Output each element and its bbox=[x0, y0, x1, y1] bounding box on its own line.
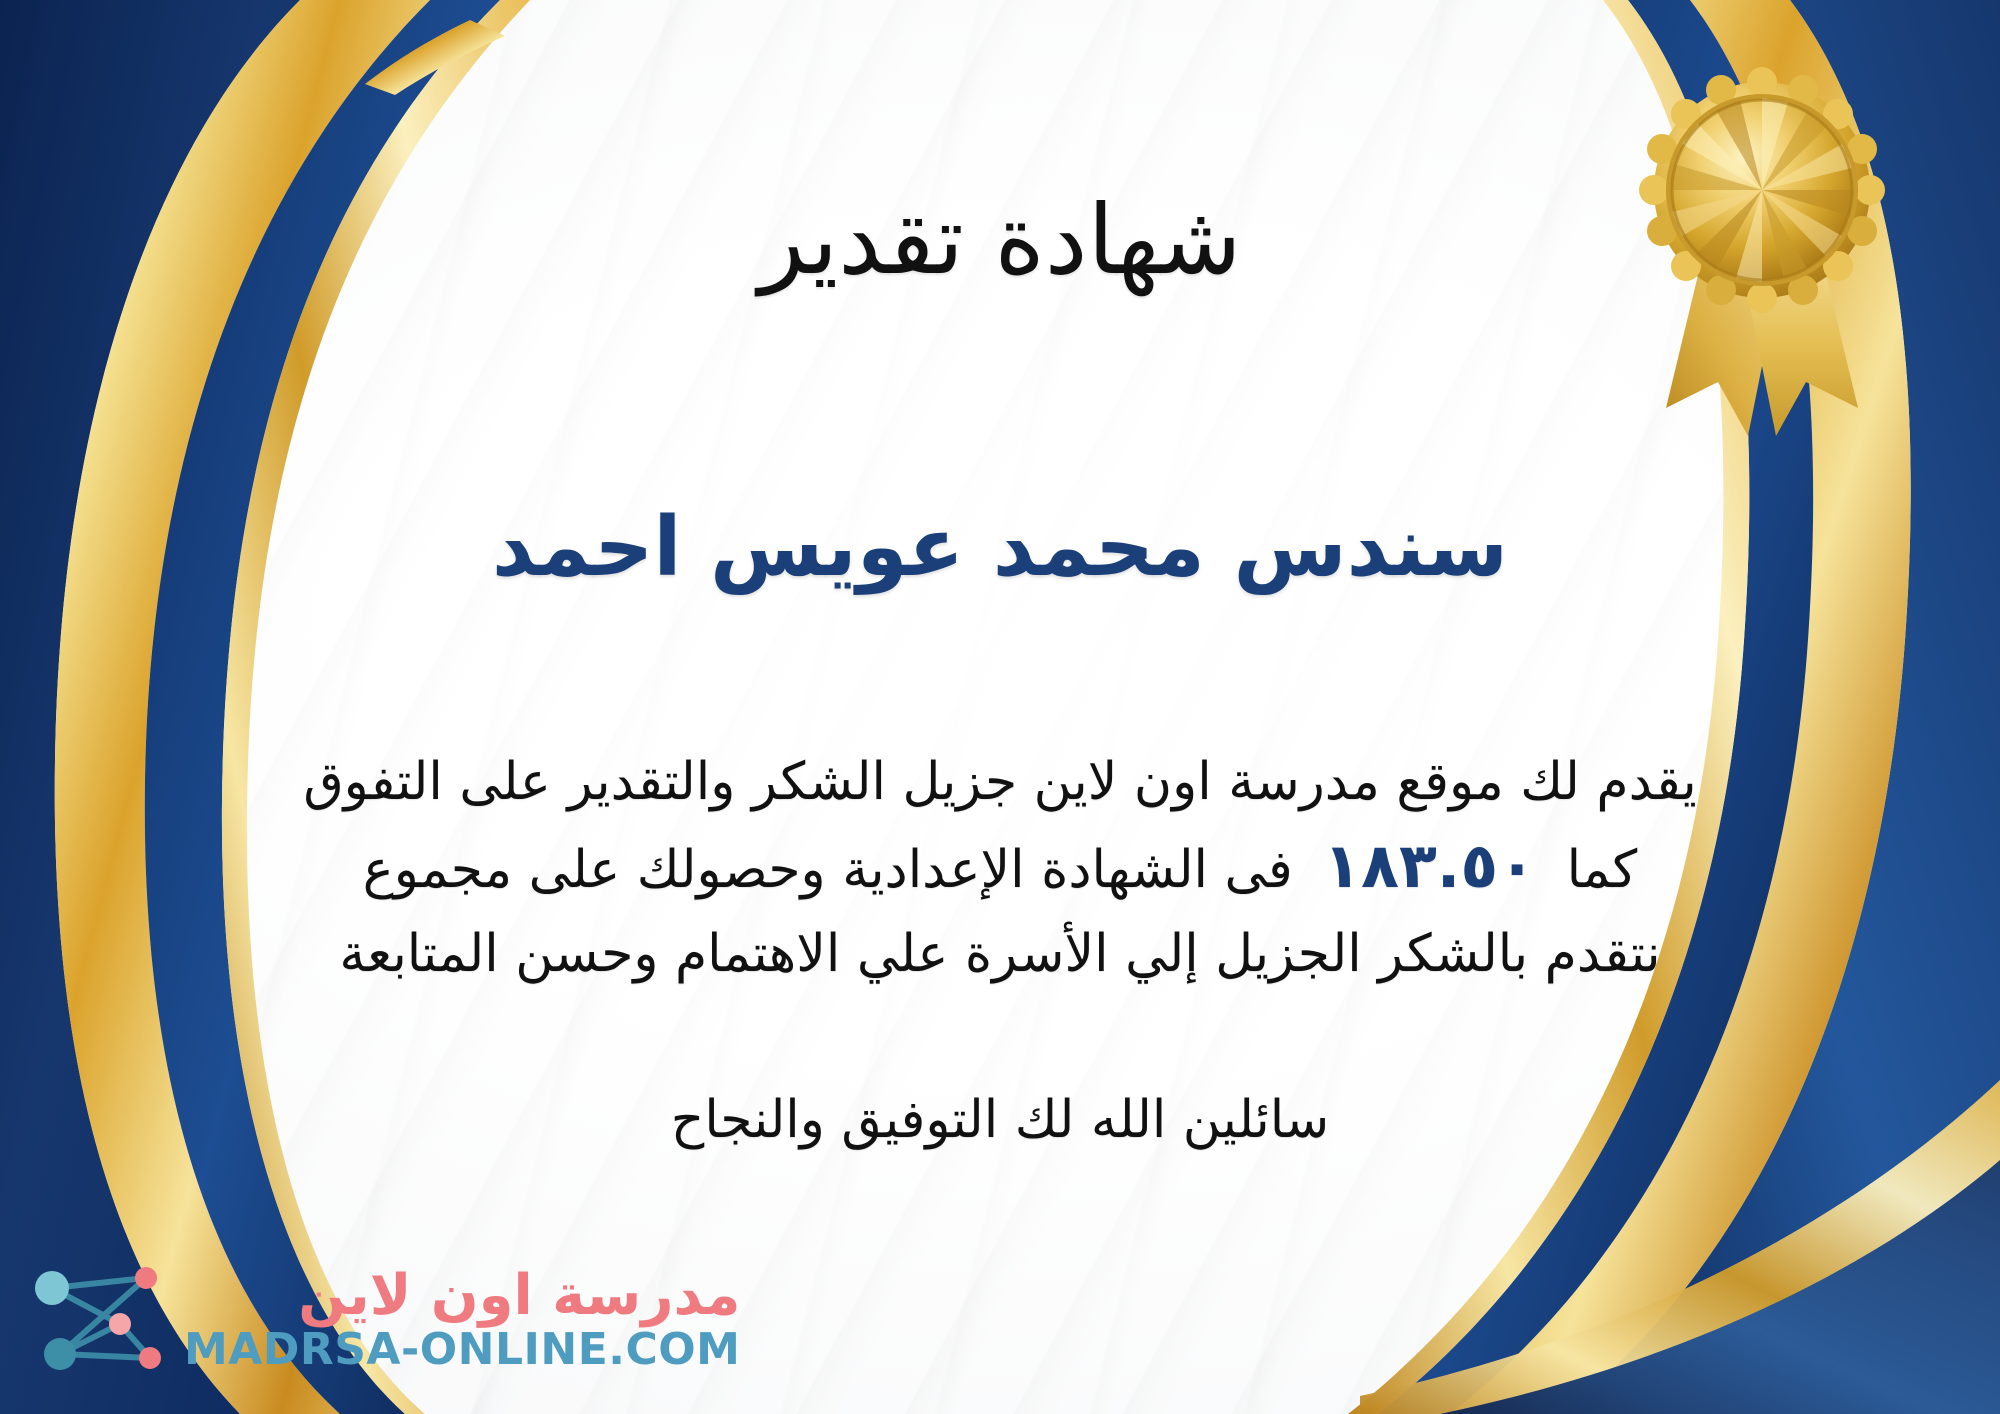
brand-name-arabic: مدرسة اون لاين bbox=[298, 1267, 740, 1326]
brand-website[interactable]: MADRSA-ONLINE.COM bbox=[184, 1326, 740, 1374]
body-line-1: يقدم لك موقع مدرسة اون لاين جزيل الشكر و… bbox=[40, 740, 1960, 824]
closing-wish: سائلين الله لك التوفيق والنجاح bbox=[0, 1090, 2000, 1150]
recipient-name: سندس محمد عويس احمد bbox=[0, 500, 2000, 595]
brand-logo[interactable]: مدرسة اون لاين MADRSA-ONLINE.COM bbox=[24, 1254, 740, 1388]
body-line-3: نتقدم بالشكر الجزيل إلي الأسرة علي الاهت… bbox=[40, 912, 1960, 996]
certificate-title: شهادة تقدير bbox=[0, 184, 2000, 296]
network-nodes-icon bbox=[24, 1254, 174, 1388]
brand-text-block: مدرسة اون لاين MADRSA-ONLINE.COM bbox=[184, 1267, 740, 1374]
certificate-canvas: شهادة تقدير سندس محمد عويس احمد يقدم لك … bbox=[0, 0, 2000, 1414]
body-line-2: كما ١٨٣.٥٠ فى الشهادة الإعدادية وحصولك ع… bbox=[40, 824, 1960, 912]
certificate-body: يقدم لك موقع مدرسة اون لاين جزيل الشكر و… bbox=[40, 740, 1960, 996]
score-value: ١٨٣.٥٠ bbox=[1309, 829, 1550, 902]
body-line-2-prefix: فى الشهادة الإعدادية وحصولك على مجموع bbox=[363, 840, 1293, 900]
body-line-2-suffix: كما bbox=[1567, 840, 1638, 900]
